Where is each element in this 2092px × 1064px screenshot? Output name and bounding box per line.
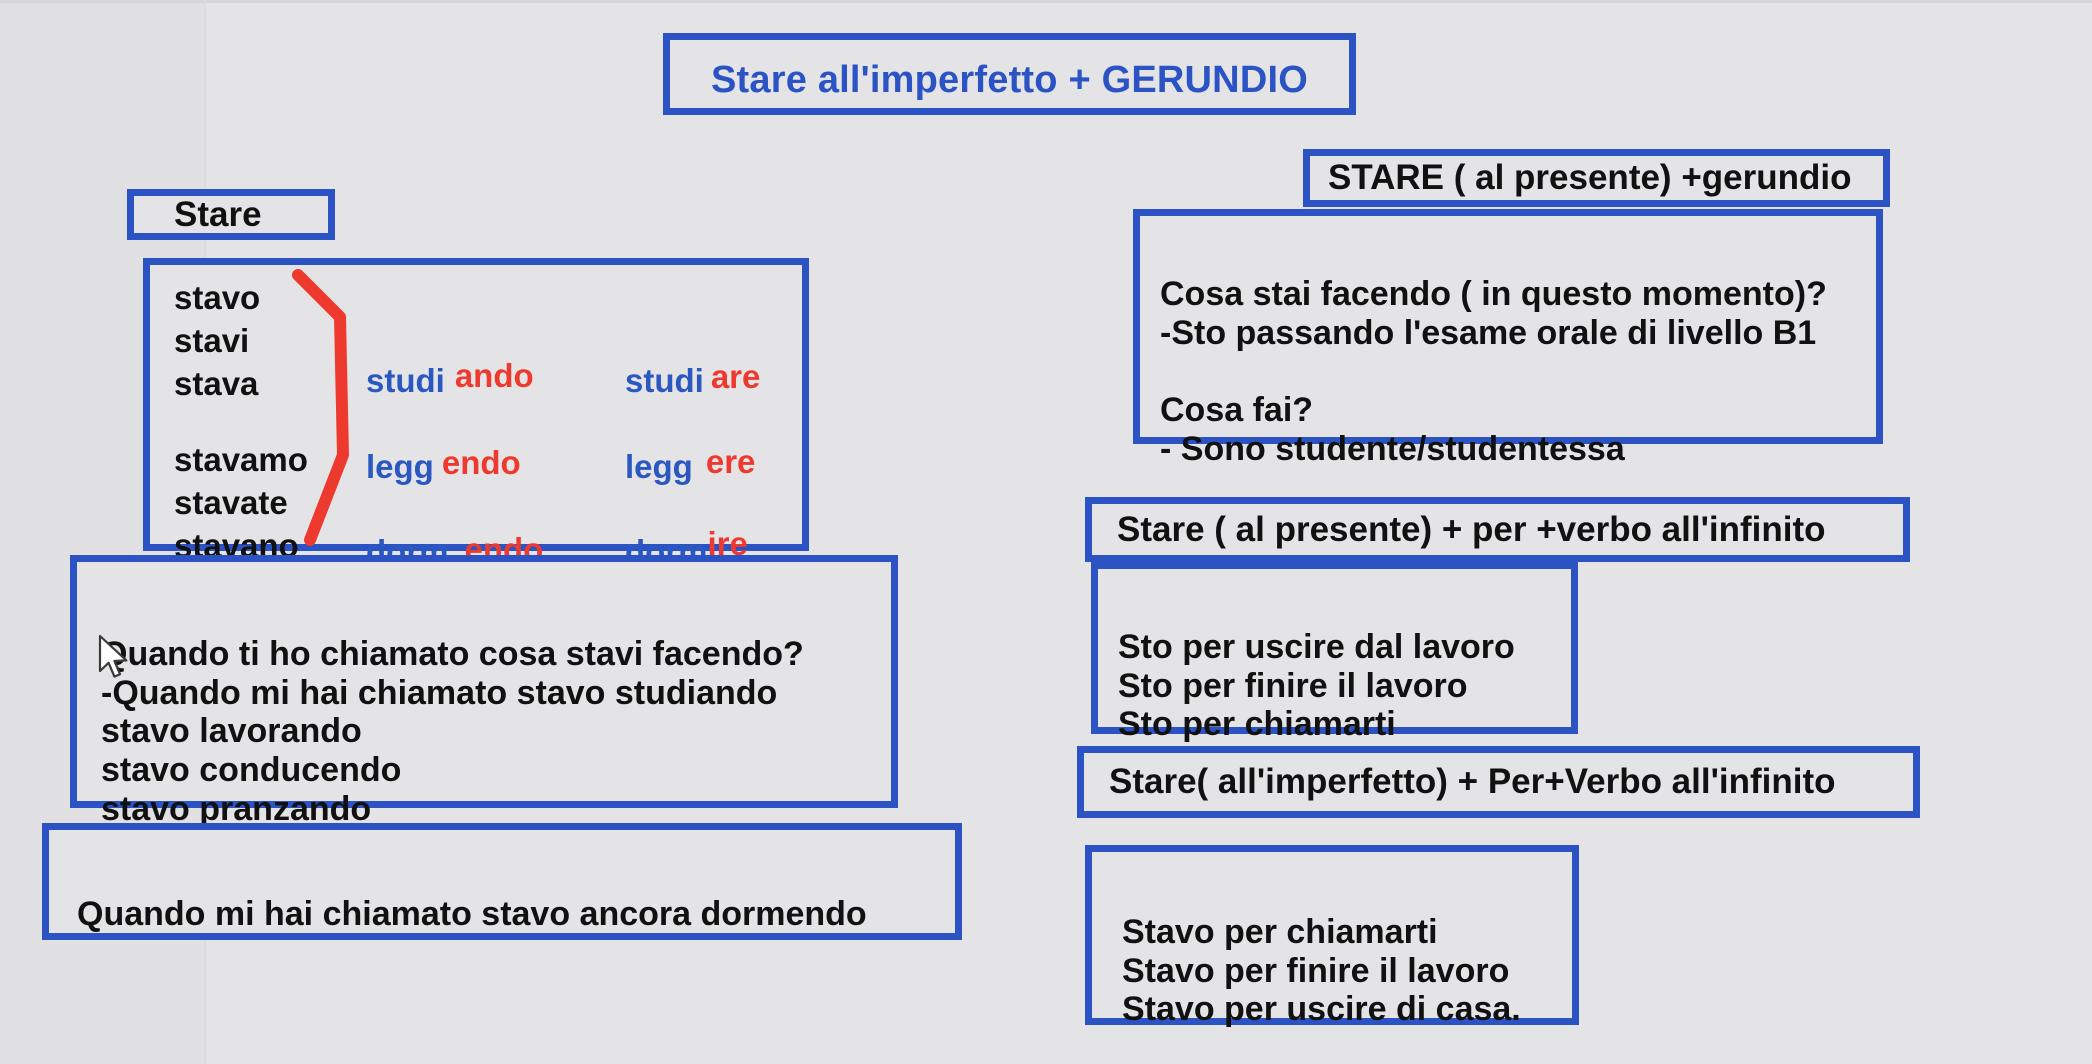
verb-label-box: Stare	[127, 189, 335, 240]
infinitive-ending: are	[711, 356, 761, 399]
rule1-header-box: STARE ( al presente) +gerundio	[1303, 149, 1890, 207]
imperfect-single-example-text: Quando mi hai chiamato stavo ancora dorm…	[77, 895, 867, 933]
rule1-header-text: STARE ( al presente) +gerundio	[1328, 158, 1851, 198]
gerund-row: legg endo	[366, 446, 543, 489]
gerund-row: studi ando	[366, 360, 543, 403]
rule2-header-box: Stare ( al presente) + per +verbo all'in…	[1085, 497, 1910, 562]
rule1-body-text: Cosa stai facendo ( in questo momento)? …	[1160, 275, 1827, 468]
infinitive-row: legg ere	[625, 446, 760, 489]
persons-plural: stavamo stavate stavano	[174, 439, 308, 568]
rule2-header-text: Stare ( al presente) + per +verbo all'in…	[1117, 510, 1826, 550]
verb-label-text: Stare	[174, 195, 262, 235]
rule3-body-box: Stavo per chiamarti Stavo per finire il …	[1085, 845, 1579, 1025]
rule2-body-text: Sto per uscire dal lavoro Sto per finire…	[1118, 628, 1515, 744]
imperfect-examples-box: Quando ti ho chiamato cosa stavi facendo…	[70, 555, 898, 808]
rule3-header-text: Stare( all'imperfetto) + Per+Verbo all'i…	[1109, 762, 1836, 802]
infinitive-ending: ere	[706, 441, 756, 484]
slide-title-box: Stare all'imperfetto + GERUNDIO	[663, 33, 1356, 115]
rule3-body-text: Stavo per chiamarti Stavo per finire il …	[1122, 913, 1521, 1029]
rule2-body-box: Sto per uscire dal lavoro Sto per finire…	[1091, 562, 1578, 734]
slide-canvas: Stare all'imperfetto + GERUNDIO Stare st…	[0, 0, 2092, 1064]
slide-title-text: Stare all'imperfetto + GERUNDIO	[711, 59, 1308, 102]
conjugation-box: stavo stavi stava stavamo stavate stavan…	[143, 258, 809, 551]
infinitive-stem: studi	[625, 360, 704, 403]
gerund-stem: legg	[366, 446, 434, 489]
gerund-stem: studi	[366, 360, 445, 403]
canvas-top-rule	[0, 0, 2092, 3]
persons-singular: stavo stavi stava	[174, 277, 260, 406]
rule1-body-box: Cosa stai facendo ( in questo momento)? …	[1133, 209, 1883, 444]
rule3-header-box: Stare( all'imperfetto) + Per+Verbo all'i…	[1077, 746, 1920, 818]
imperfect-examples-text: Quando ti ho chiamato cosa stavi facendo…	[101, 635, 804, 828]
gerund-ending: endo	[442, 442, 521, 485]
imperfect-single-example-box: Quando mi hai chiamato stavo ancora dorm…	[42, 823, 962, 940]
gerund-ending: ando	[455, 355, 534, 398]
infinitive-stem: legg	[625, 446, 693, 489]
infinitive-row: studi are	[625, 360, 760, 403]
